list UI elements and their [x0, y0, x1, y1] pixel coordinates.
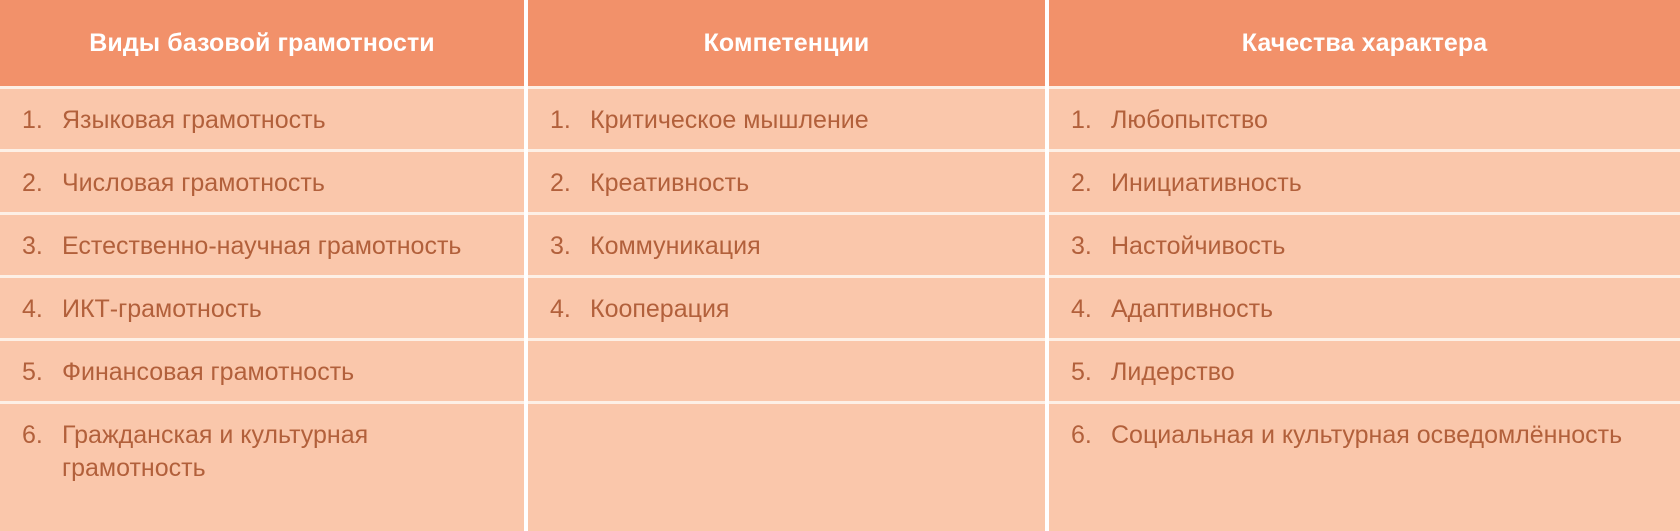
list-item-label: Гражданская и культурная грамотность: [62, 419, 500, 485]
list-number: 2.: [550, 167, 590, 200]
list-number: 6.: [1071, 419, 1111, 452]
list-number: 3.: [1071, 230, 1111, 263]
table-row: 3. Естественно-научная грамотность: [0, 212, 524, 275]
list-item-label: Инициативность: [1111, 167, 1656, 200]
list-item-label: Финансовая грамотность: [62, 356, 500, 389]
three-column-table: Виды базовой грамотности 1. Языковая гра…: [0, 0, 1680, 531]
list-item-label: Креативность: [590, 167, 1021, 200]
list-number: 1.: [1071, 104, 1111, 137]
list-number: 5.: [1071, 356, 1111, 389]
list-number: 3.: [22, 230, 62, 263]
list-item-label: Кооперация: [590, 293, 1021, 326]
table-row: 3. Настойчивость: [1049, 212, 1680, 275]
table-row: 5. Лидерство: [1049, 338, 1680, 401]
table-column-character-qualities: Качества характера 1. Любопытство 2. Ини…: [1045, 0, 1680, 531]
column-body-basic-literacy: 1. Языковая грамотность 2. Числовая грам…: [0, 86, 524, 531]
table-row: 2. Креативность: [528, 149, 1045, 212]
list-item-label: Настойчивость: [1111, 230, 1656, 263]
column-header-competencies: Компетенции: [528, 0, 1045, 86]
column-body-character-qualities: 1. Любопытство 2. Инициативность 3. Наст…: [1049, 86, 1680, 531]
list-number: 4.: [22, 293, 62, 326]
list-number: 4.: [1071, 293, 1111, 326]
table-row: 1. Любопытство: [1049, 86, 1680, 149]
table-column-competencies: Компетенции 1. Критическое мышление 2. К…: [524, 0, 1045, 531]
list-number: 1.: [550, 104, 590, 137]
list-number: 4.: [550, 293, 590, 326]
table-row: 3. Коммуникация: [528, 212, 1045, 275]
list-number: 1.: [22, 104, 62, 137]
table-row: 1. Языковая грамотность: [0, 86, 524, 149]
table-row: 6. Гражданская и культурная грамотность: [0, 401, 524, 531]
table-row-empty: [528, 401, 1045, 531]
table-row: 2. Инициативность: [1049, 149, 1680, 212]
table-column-basic-literacy: Виды базовой грамотности 1. Языковая гра…: [0, 0, 524, 531]
list-number: 5.: [22, 356, 62, 389]
list-number: 3.: [550, 230, 590, 263]
table-row: 4. ИКТ-грамотность: [0, 275, 524, 338]
column-body-competencies: 1. Критическое мышление 2. Креативность …: [528, 86, 1045, 531]
table-row: 1. Критическое мышление: [528, 86, 1045, 149]
table-row: 2. Числовая грамотность: [0, 149, 524, 212]
list-item-label: ИКТ-грамотность: [62, 293, 500, 326]
list-number: 6.: [22, 419, 62, 452]
list-item-label: Критическое мышление: [590, 104, 1021, 137]
table-row: 5. Финансовая грамотность: [0, 338, 524, 401]
list-item-label: Языковая грамотность: [62, 104, 500, 137]
column-header-character-qualities: Качества характера: [1049, 0, 1680, 86]
list-item-label: Адаптивность: [1111, 293, 1656, 326]
list-item-label: Лидерство: [1111, 356, 1656, 389]
list-item-label: Коммуникация: [590, 230, 1021, 263]
list-item-label: Числовая грамотность: [62, 167, 500, 200]
list-number: 2.: [1071, 167, 1111, 200]
table-row: 4. Кооперация: [528, 275, 1045, 338]
table-row: 6. Социальная и культурная осведомлённос…: [1049, 401, 1680, 531]
list-item-label: Естественно-научная грамотность: [62, 230, 500, 263]
table-row-empty: [528, 338, 1045, 401]
table-row: 4. Адаптивность: [1049, 275, 1680, 338]
column-header-basic-literacy: Виды базовой грамотности: [0, 0, 524, 86]
list-item-label: Любопытство: [1111, 104, 1656, 137]
list-number: 2.: [22, 167, 62, 200]
list-item-label: Социальная и культурная осведомлённость: [1111, 419, 1656, 452]
